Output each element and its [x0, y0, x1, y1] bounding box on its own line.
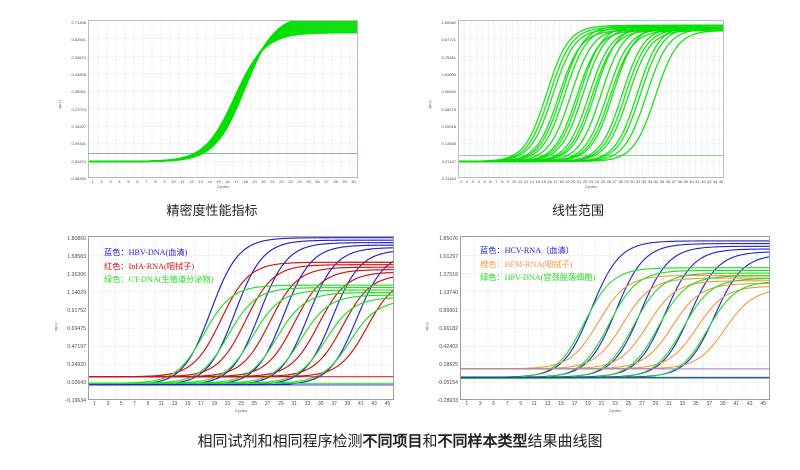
- y-tick-label: 0.24920: [56, 363, 86, 368]
- chart-panel-precision: 0.714080.625410.536740.448080.359410.270…: [62, 14, 362, 194]
- y-axis-label-multi-target: RFU: [54, 322, 59, 330]
- y-tick-label: -0.28933: [424, 399, 458, 404]
- y-tick-label: 1.13740: [424, 291, 458, 296]
- y-axis-label-precision: RFU: [58, 100, 63, 108]
- y-tick-label: 0.75361: [428, 56, 456, 60]
- y-tick-label: 0.47197: [56, 345, 86, 350]
- y-tick-label: 0.18207: [62, 125, 86, 129]
- y-tick-label: -0.19634: [56, 399, 86, 404]
- legend-multi-target: 蓝色：HBV-DNA(血清)红色：InfA-RNA(咽拭子)绿色：CT-DNA(…: [104, 246, 213, 287]
- y-tick-label: -0.05154: [424, 381, 458, 386]
- precision-curves: [89, 21, 358, 178]
- figure-caption: 相同试剂和相同程序检测不同项目和不同样本类型结果曲线图: [0, 430, 800, 451]
- legend-entry-1: 红色：InfA-RNA(咽拭子): [104, 260, 213, 274]
- y-tick-label: 0.01197: [428, 160, 456, 164]
- y-tick-label: 0.25918: [428, 125, 456, 129]
- y-tick-label: -0.08393: [62, 177, 86, 181]
- caption-run-2: 和: [422, 433, 437, 450]
- figure-page: 0.714080.625410.536740.448080.359410.270…: [0, 0, 800, 470]
- y-tick-label: 0.63000: [428, 73, 456, 77]
- y-tick-label: 0.27074: [62, 108, 86, 112]
- chart-panel-multi-sample: 1.850761.612971.375181.137400.899610.661…: [424, 232, 772, 418]
- legend-entry-0: 蓝色：HBV-DNA(血清): [104, 246, 213, 260]
- y-tick-label: -0.11163: [428, 177, 456, 181]
- y-tick-label: 0.87721: [428, 38, 456, 42]
- caption-run-0: 相同试剂和相同程序检测: [197, 433, 362, 450]
- chart-title-precision: 精密度性能指标: [62, 200, 362, 219]
- legend-entry-1: 橙色：HFM-RNA(咽拭子): [480, 258, 595, 272]
- y-tick-label: 0.69475: [56, 327, 86, 332]
- y-tick-label: 0.53674: [62, 56, 86, 60]
- y-tick-label: 1.00082: [428, 21, 456, 25]
- caption-run-3: 不同样本类型: [438, 433, 528, 450]
- plot-area-linearity: [458, 20, 724, 178]
- caption-run-1: 不同项目: [362, 433, 422, 450]
- y-tick-label: 1.58583: [56, 255, 86, 260]
- chart-title-linearity: 线性范围: [428, 200, 728, 219]
- y-tick-label: 0.42403: [424, 345, 458, 350]
- caption-run-4: 结果曲线图: [528, 433, 603, 450]
- y-tick-label: 0.18625: [424, 363, 458, 368]
- x-tick-label: 45: [379, 402, 395, 407]
- y-tick-label: 1.14029: [56, 291, 86, 296]
- y-tick-label: 0.71408: [62, 21, 86, 25]
- plot-area-precision: [88, 20, 358, 178]
- y-tick-label: 0.00474: [62, 160, 86, 164]
- y-tick-label: 0.09341: [62, 142, 86, 146]
- y-tick-label: 1.36306: [56, 273, 86, 278]
- y-tick-label: 0.13558: [428, 142, 456, 146]
- chart-panel-multi-target: 1.808601.585831.363061.140290.917520.694…: [56, 232, 396, 418]
- x-axis-label-precision: Cycles: [88, 184, 358, 189]
- y-tick-label: 0.89961: [424, 309, 458, 314]
- y-axis-label-linearity: RFU: [428, 100, 433, 108]
- legend-entry-2: 绿色：HPV-DNA(宫颈脱落细胞): [480, 271, 595, 285]
- x-axis-label-multi-sample: Cycles: [460, 408, 770, 413]
- y-tick-label: 0.91752: [56, 309, 86, 314]
- chart-panel-linearity: 1.000820.877210.753610.630000.506400.382…: [428, 14, 728, 194]
- y-tick-label: 0.35941: [62, 90, 86, 94]
- y-tick-label: 1.61297: [424, 255, 458, 260]
- y-tick-label: 1.37518: [424, 273, 458, 278]
- y-tick-label: 0.44808: [62, 73, 86, 77]
- y-tick-label: 0.02643: [56, 381, 86, 386]
- y-tick-label: 0.50640: [428, 90, 456, 94]
- legend-entry-0: 蓝色：HCV-RNA（血清）: [480, 244, 595, 258]
- y-tick-label: 1.85076: [424, 237, 458, 242]
- linearity-curves: [459, 21, 724, 178]
- y-tick-label: 0.62541: [62, 38, 86, 42]
- x-tick-label: 45: [755, 402, 771, 407]
- x-axis-label-linearity: Cycles: [458, 184, 724, 189]
- y-axis-label-multi-sample: RFU: [425, 322, 430, 330]
- legend-multi-sample: 蓝色：HCV-RNA（血清）橙色：HFM-RNA(咽拭子)绿色：HPV-DNA(…: [480, 244, 595, 285]
- x-axis-label-multi-target: Cycles: [88, 408, 394, 413]
- y-tick-label: 1.80860: [56, 237, 86, 242]
- legend-entry-2: 绿色：CT-DNA(生殖道分泌物): [104, 273, 213, 287]
